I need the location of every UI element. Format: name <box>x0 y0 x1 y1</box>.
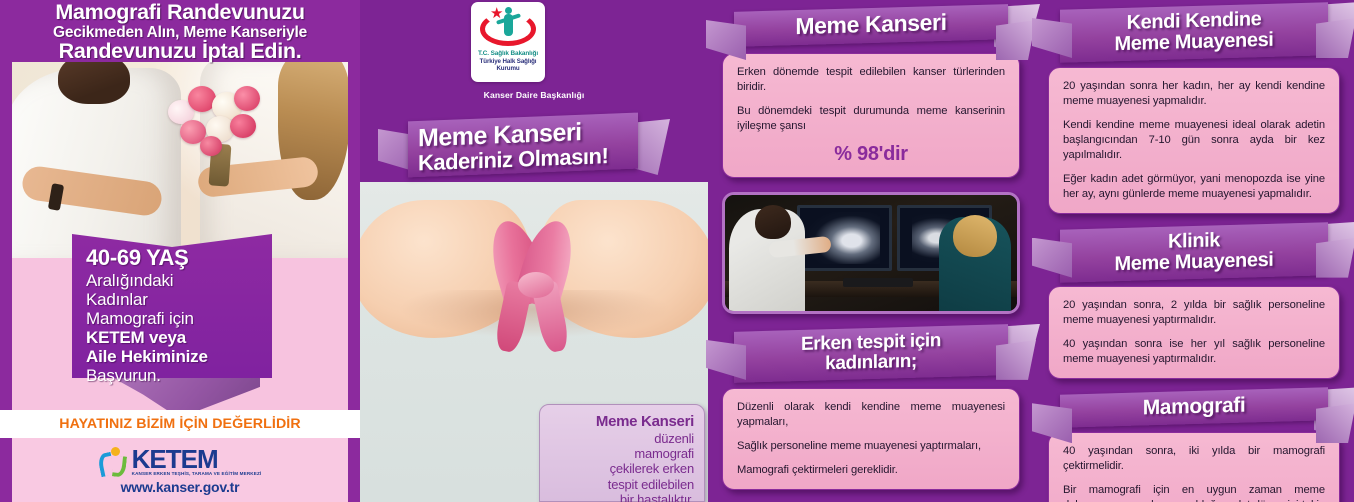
bubble-line-4: Mamografi için <box>86 309 266 328</box>
section-header-klinik: Klinik Meme Muayenesi <box>1034 226 1354 279</box>
headline-line-3: Randevunuzu İptal Edin. <box>0 41 360 63</box>
mamografi-p1: 40 yaşından sonra, iki yılda bir mamogra… <box>1063 444 1325 474</box>
section-header-erken-tespit: Erken tespit için kadınların; <box>708 328 1034 379</box>
section-title-meme-kanseri: Meme Kanseri <box>734 9 1008 41</box>
kendi-kendine-p2: Kendi kendine meme muayenesi ideal olara… <box>1063 118 1325 163</box>
mammogram-consultation-photo <box>722 192 1020 314</box>
center-ribbon-banner: Meme Kanseri Kaderiniz Olmasın! <box>378 117 668 177</box>
erken-tespit-p2: Sağlık personeline meme muayenesi yaptır… <box>737 439 1005 454</box>
kendi-kendine-p1: 20 yaşından sonra her kadın, her ay kend… <box>1063 79 1325 109</box>
patient-figure <box>939 217 1011 314</box>
section-header-meme-kanseri: Meme Kanseri <box>708 8 1034 43</box>
note-line-5: bir hastalıktır. <box>550 492 694 502</box>
pink-ribbon-icon <box>488 220 584 350</box>
ketem-figure-icon <box>99 447 129 477</box>
ketem-logo: KETEM KANSER ERKEN TEŞHİS, TARAMA VE EĞİ… <box>99 447 262 477</box>
speech-bubble-text: 40-69 YAŞ Aralığındaki Kadınlar Mamograf… <box>86 246 266 385</box>
center-ribbon-text: Meme Kanseri Kaderiniz Olmasın! <box>418 118 648 175</box>
bubble-line-2: Aralığındaki <box>86 271 266 290</box>
doctor-head <box>755 205 791 239</box>
bubble-age-range: 40-69 YAŞ <box>86 246 266 271</box>
note-line-3: çekilerek erken <box>550 461 694 476</box>
right-panel: Meme Kanseri Erken dönemde tespit edileb… <box>708 0 1354 502</box>
erken-tespit-p3: Mamografi çektirmeleri gereklidir. <box>737 463 1005 478</box>
card-meme-kanseri: Erken dönemde tespit edilebilen kanser t… <box>722 53 1020 178</box>
meme-kanseri-p2: Bu dönemdeki tespit durumunda meme kanse… <box>737 104 1005 134</box>
section-header-kendi-kendine: Kendi Kendine Meme Muayenesi <box>1034 6 1354 59</box>
poster-root: Mamografi Randevunuzu Gecikmeden Alın, M… <box>0 0 1354 502</box>
ketem-logo-block: KETEM KANSER ERKEN TEŞHİS, TARAMA VE EĞİ… <box>12 440 348 502</box>
ketem-website-link[interactable]: www.kanser.gov.tr <box>121 479 240 495</box>
department-caption: Kanser Daire Başkanlığı <box>360 90 708 100</box>
slogan-bar: HAYATINIZ BİZİM İÇİN DEĞERLİDİR <box>0 410 360 438</box>
card-klinik: 20 yaşından sonra, 2 yılda bir sağlık pe… <box>1048 286 1340 379</box>
headline-line-1: Mamografi Randevunuzu <box>0 2 360 24</box>
ministry-of-health-logo: T.C. Sağlık Bakanlığı Türkiye Halk Sağlı… <box>471 2 545 82</box>
right-column-b: Kendi Kendine Meme Muayenesi 20 yaşından… <box>1034 0 1354 502</box>
note-line-1: düzenli <box>550 431 694 446</box>
ministry-line-2: Türkiye Halk Sağlığı <box>480 58 537 65</box>
bubble-line-3: Kadınlar <box>86 290 266 309</box>
left-headline: Mamografi Randevunuzu Gecikmeden Alın, M… <box>0 2 360 63</box>
ketem-subtitle: KANSER ERKEN TEŞHİS, TARAMA VE EĞİTİM ME… <box>132 471 262 476</box>
survival-rate-highlight: % 98'dir <box>737 143 1005 166</box>
ketem-wordmark: KETEM <box>132 448 262 472</box>
ministry-emblem-icon <box>476 4 540 50</box>
human-figure-icon <box>504 14 513 36</box>
klinik-p2: 40 yaşından sonra ise her yıl sağlık per… <box>1063 337 1325 367</box>
note-title: Meme Kanseri <box>550 413 694 431</box>
man-head <box>58 62 130 104</box>
patient-head <box>953 215 997 257</box>
meme-kanseri-p1: Erken dönemde tespit edilebilen kanser t… <box>737 65 1005 95</box>
flower-bouquet <box>162 82 270 160</box>
man-figure <box>12 68 181 258</box>
section-header-mamografi: Mamografi <box>1034 391 1354 424</box>
bubble-line-7: Başvurun. <box>86 366 266 385</box>
note-line-4: tespit edilebilen <box>550 477 694 492</box>
center-definition-note: Meme Kanseri düzenli mamografi çekilerek… <box>539 404 705 502</box>
note-line-2: mamografi <box>550 446 694 461</box>
section-title-mamografi: Mamografi <box>1060 392 1328 421</box>
kendi-kendine-p3: Eğer kadın adet görmüyor, yani menopozda… <box>1063 172 1325 202</box>
card-kendi-kendine: 20 yaşından sonra her kadın, her ay kend… <box>1048 67 1340 214</box>
card-mamografi: 40 yaşından sonra, iki yılda bir mamogra… <box>1048 432 1340 502</box>
left-panel: Mamografi Randevunuzu Gecikmeden Alın, M… <box>0 0 360 502</box>
card-erken-tespit: Düzenli olarak kendi kendine meme muayen… <box>722 388 1020 490</box>
mamografi-p2: Bir mamografi için en uygun zaman meme d… <box>1063 483 1325 502</box>
bubble-line-6: Aile Hekiminize <box>86 347 266 366</box>
center-panel: T.C. Sağlık Bakanlığı Türkiye Halk Sağlı… <box>360 0 708 502</box>
right-column-a: Meme Kanseri Erken dönemde tespit edileb… <box>708 0 1034 502</box>
klinik-p1: 20 yaşından sonra, 2 yılda bir sağlık pe… <box>1063 298 1325 328</box>
ministry-line-1: T.C. Sağlık Bakanlığı <box>478 50 538 57</box>
erken-tespit-p1: Düzenli olarak kendi kendine meme muayen… <box>737 400 1005 430</box>
headline-line-2: Gecikmeden Alın, Meme Kanseriyle <box>0 25 360 41</box>
bubble-line-5: KETEM veya <box>86 328 266 347</box>
ministry-line-3: Kurumu <box>496 65 519 72</box>
couple-photo <box>12 62 348 258</box>
center-ribbon-line-2: Kaderiniz Olmasın! <box>418 144 648 175</box>
slogan-text: HAYATINIZ BİZİM İÇİN DEĞERLİDİR <box>59 416 300 432</box>
keyboard <box>843 278 913 287</box>
doctor-figure <box>729 209 805 314</box>
